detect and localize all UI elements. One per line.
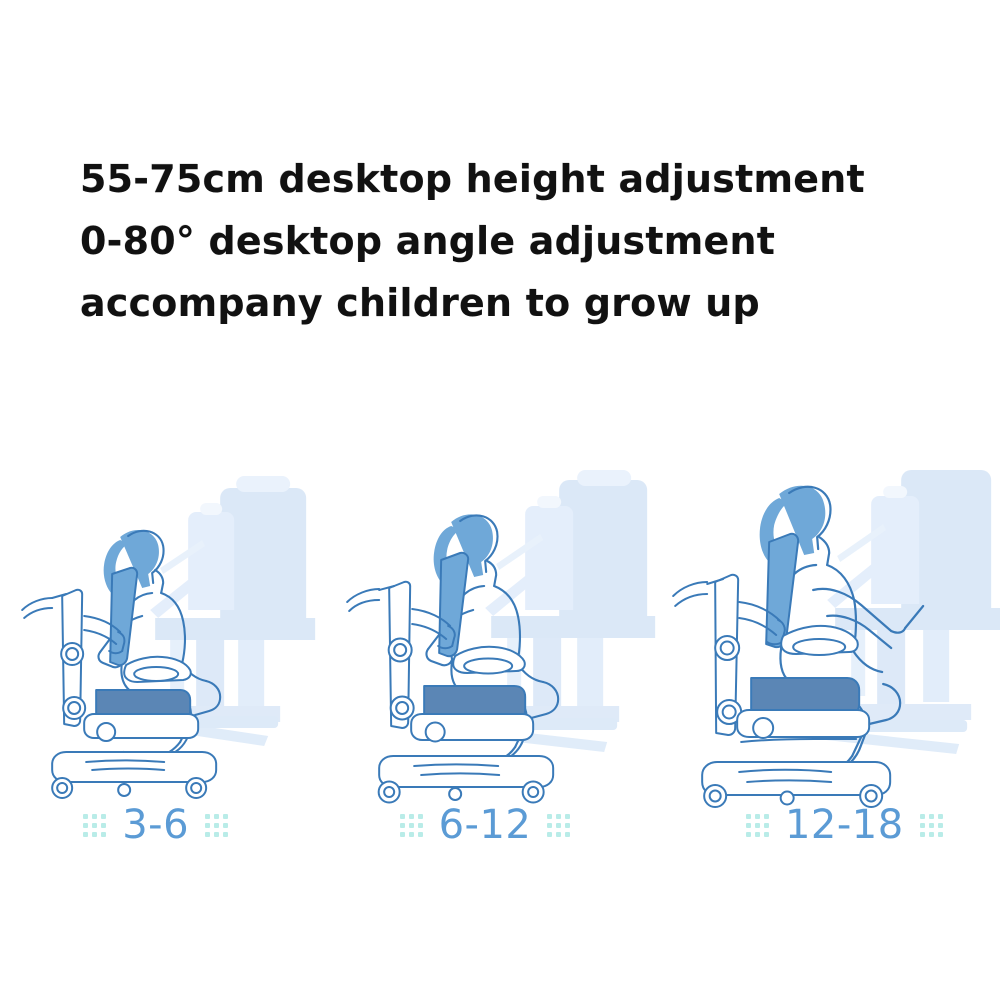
headline-line-3: accompany children to grow up xyxy=(80,272,950,334)
headline-line-1: 55-75cm desktop height adjustment xyxy=(80,148,950,210)
age-label-text-1: 3-6 xyxy=(122,803,189,847)
dot-grid-icon-left-1 xyxy=(83,814,106,837)
age-label-3-6: 3-6 xyxy=(0,795,311,855)
age-label-6-12: 6-12 xyxy=(311,795,640,855)
dot-grid-icon-left-2 xyxy=(400,814,423,837)
illustration-stage-3-6 xyxy=(0,470,333,800)
illustration-stage-12-18 xyxy=(667,470,1000,800)
dot-grid-icon-right-3 xyxy=(920,814,943,837)
illustration-strip xyxy=(0,470,1000,800)
dot-grid-icon-right-2 xyxy=(547,814,570,837)
age-label-text-2: 6-12 xyxy=(439,803,532,847)
headline-line-2: 0-80° desktop angle adjustment xyxy=(80,210,950,272)
headline-block: 55-75cm desktop height adjustment 0-80° … xyxy=(80,148,950,334)
promo-page: 55-75cm desktop height adjustment 0-80° … xyxy=(0,0,1000,1000)
age-label-text-3: 12-18 xyxy=(785,803,904,847)
adjustable-chair-icon xyxy=(22,568,216,798)
dot-grid-icon-left-3 xyxy=(746,814,769,837)
age-label-12-18: 12-18 xyxy=(641,795,1000,855)
dot-grid-icon-right-1 xyxy=(205,814,228,837)
age-label-row: 3-6 6-12 12-18 xyxy=(0,795,1000,855)
illustration-stage-6-12 xyxy=(333,470,666,800)
